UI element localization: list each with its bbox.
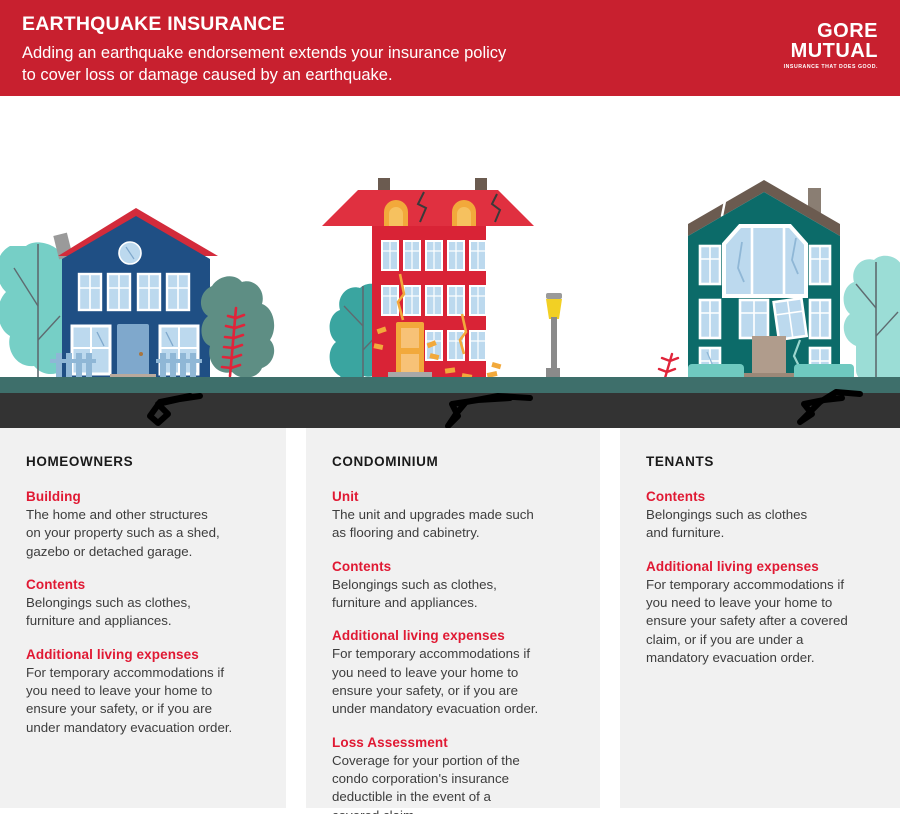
door-panel — [401, 328, 419, 348]
bay-window — [724, 226, 806, 296]
section-body: The unit and upgrades made such as floor… — [332, 506, 578, 543]
section-heading: Contents — [646, 489, 878, 504]
coverage-columns: HOMEOWNERS Building The home and other s… — [0, 428, 900, 808]
page-header: EARTHQUAKE INSURANCE Adding an earthquak… — [0, 0, 900, 96]
section-loss-assessment: Loss Assessment Coverage for your portio… — [332, 735, 578, 814]
dormer-glass — [457, 207, 471, 226]
lamp-cap — [546, 293, 562, 299]
logo-word-gore: GORE — [784, 22, 878, 42]
column-condominium: CONDOMINIUM Unit The unit and upgrades m… — [306, 428, 600, 808]
roof — [322, 190, 534, 226]
street-lamp — [546, 293, 562, 381]
section-additional-living-expenses: Additional living expenses For temporary… — [26, 647, 264, 737]
section-heading: Unit — [332, 489, 578, 504]
section-additional-living-expenses: Additional living expenses For temporary… — [332, 628, 578, 718]
section-body: Coverage for your portion of the condo c… — [332, 752, 578, 814]
column-divider — [600, 428, 620, 808]
page-subtitle: Adding an earthquake endorsement extends… — [22, 43, 506, 87]
section-heading: Contents — [332, 559, 578, 574]
section-body: For temporary accommodations if you need… — [646, 576, 878, 668]
lamp-glass — [546, 299, 562, 319]
section-heading: Additional living expenses — [26, 647, 264, 662]
section-heading: Additional living expenses — [332, 628, 578, 643]
gore-mutual-logo: GORE MUTUAL INSURANCE THAT DOES GOOD. — [784, 22, 878, 70]
subtitle-line-1: Adding an earthquake endorsement extends… — [22, 43, 506, 65]
column-title-tenants: TENANTS — [646, 454, 878, 469]
street-scene-svg — [0, 96, 900, 428]
page-title: EARTHQUAKE INSURANCE — [22, 14, 506, 35]
section-building: Building The home and other structures o… — [26, 489, 264, 561]
front-door — [117, 324, 149, 381]
dormer-glass — [389, 207, 403, 226]
section-body: Belongings such as clothes and furniture… — [646, 506, 878, 543]
window-row-top — [382, 241, 486, 270]
column-title-condominium: CONDOMINIUM — [332, 454, 578, 469]
section-heading: Loss Assessment — [332, 735, 578, 750]
section-body: For temporary accommodations if you need… — [26, 664, 264, 737]
logo-letter-o-mark-icon: O — [833, 22, 849, 42]
section-body: Belongings such as clothes, furniture an… — [26, 594, 264, 631]
logo-letter-g: G — [817, 20, 833, 42]
column-divider — [286, 428, 306, 808]
ground-grass-strip — [0, 377, 900, 393]
infographic-page: EARTHQUAKE INSURANCE Adding an earthquak… — [0, 0, 900, 814]
section-body: The home and other structures on your pr… — [26, 506, 264, 561]
bush-right — [201, 276, 274, 378]
section-unit: Unit The unit and upgrades made such as … — [332, 489, 578, 543]
logo-letters-re: RE — [849, 20, 878, 42]
logo-tagline: INSURANCE THAT DOES GOOD. — [784, 64, 878, 70]
section-body: For temporary accommodations if you need… — [332, 645, 578, 718]
door-knob — [139, 352, 143, 356]
column-title-homeowners: HOMEOWNERS — [26, 454, 264, 469]
subtitle-line-2: to cover loss or damage caused by an ear… — [22, 65, 506, 87]
column-tenants: TENANTS Contents Belongings such as clot… — [620, 428, 900, 808]
section-contents: Contents Belongings such as clothes, fur… — [26, 577, 264, 631]
column-homeowners: HOMEOWNERS Building The home and other s… — [0, 428, 286, 808]
section-heading: Additional living expenses — [646, 559, 878, 574]
section-contents: Contents Belongings such as clothes and … — [646, 489, 878, 543]
section-heading: Building — [26, 489, 264, 504]
windows-middle-row — [700, 298, 830, 340]
townhouse-teal — [688, 180, 854, 381]
section-additional-living-expenses: Additional living expenses For temporary… — [646, 559, 878, 668]
door-panel — [401, 354, 419, 374]
street-illustration — [0, 96, 900, 428]
logo-word-mutual: MUTUAL — [784, 42, 878, 62]
header-text-block: EARTHQUAKE INSURANCE Adding an earthquak… — [22, 14, 506, 87]
section-heading: Contents — [26, 577, 264, 592]
section-body: Belongings such as clothes, furniture an… — [332, 576, 578, 613]
section-contents: Contents Belongings such as clothes, fur… — [332, 559, 578, 613]
